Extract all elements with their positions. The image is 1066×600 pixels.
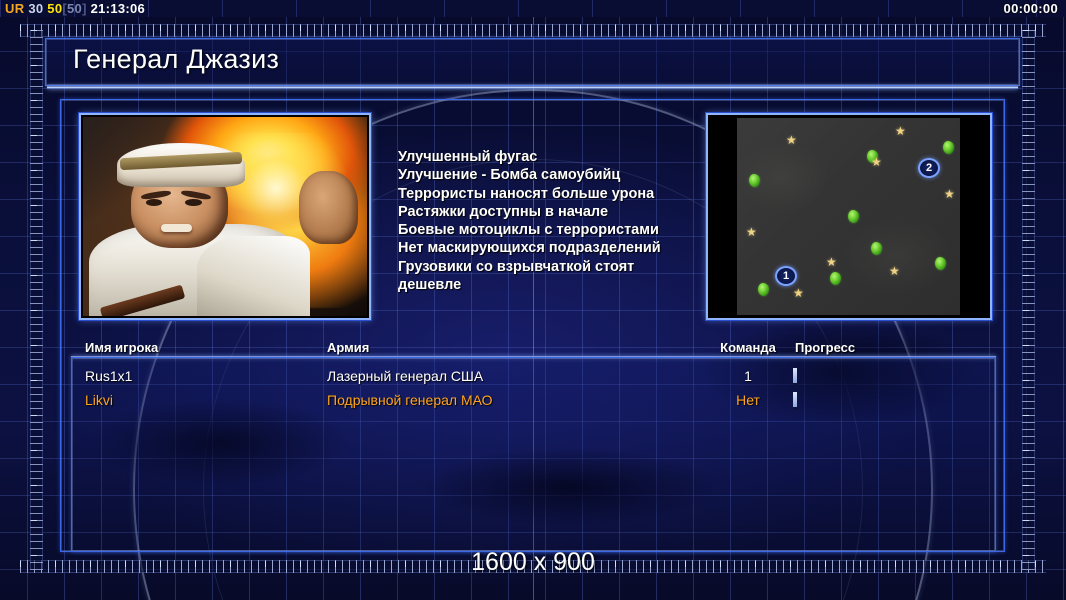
portrait-hand	[299, 171, 359, 245]
general-portrait-image	[83, 117, 367, 316]
player-army: Подрывной генерал МАО	[327, 388, 493, 412]
ruler-band-top	[20, 24, 1046, 37]
minimap[interactable]: 12	[711, 118, 987, 315]
player-progress	[795, 369, 984, 382]
minimap-supply-blob	[935, 257, 946, 270]
status-ur-label: UR	[5, 1, 24, 16]
portrait-shoulder-cloth	[197, 236, 311, 316]
player-team: Нет	[712, 388, 784, 412]
player-army: Лазерный генерал США	[327, 364, 483, 388]
status-value-2: 50	[47, 1, 62, 16]
minimap-supply-blob	[848, 210, 859, 223]
minimap-frame[interactable]: 12	[706, 113, 992, 320]
column-header-progress: Прогресс	[795, 340, 855, 355]
minimap-supply-blob	[871, 242, 882, 255]
minimap-supply-blob	[758, 283, 769, 296]
status-bar: UR 30 50[50] 21:13:06 00:00:00	[0, 0, 1066, 17]
table-row[interactable]: Likvi Подрывной генерал МАО Нет	[60, 388, 1005, 412]
ability-line: Террористы наносят больше урона	[398, 185, 698, 203]
portrait-eye-left	[146, 199, 162, 206]
minimap-start-position-1[interactable]: 1	[775, 266, 797, 286]
progress-bar-cap	[793, 392, 797, 407]
player-table-rows: Rus1x1 Лазерный генерал США 1 Likvi Подр…	[60, 364, 1005, 412]
general-ability-list: Улучшенный фугас Улучшение - Бомба самоу…	[398, 148, 698, 294]
portrait-eye-right	[185, 199, 201, 206]
page-title: Генерал Джазиз	[73, 44, 279, 75]
minimap-supply-blob	[830, 272, 841, 285]
player-name: Likvi	[85, 388, 113, 412]
column-header-army: Армия	[327, 340, 369, 355]
column-header-team: Команда	[712, 340, 784, 355]
status-bar-left-group: UR 30 50[50] 21:13:06	[5, 0, 145, 17]
minimap-start-position-2[interactable]: 2	[918, 158, 940, 178]
title-divider	[47, 86, 1018, 89]
status-bar-grid	[0, 0, 1066, 17]
ability-line: дешевле	[398, 276, 698, 294]
portrait-mouth	[161, 224, 192, 232]
ability-line: Растяжки доступны в начале	[398, 203, 698, 221]
ability-line: Нет маскирующихся подразделений	[398, 239, 698, 257]
player-progress	[795, 393, 984, 406]
general-portrait-frame	[79, 113, 371, 320]
status-timer: 00:00:00	[1004, 0, 1058, 17]
status-value-3: 50	[67, 1, 82, 16]
minimap-supply-blob	[943, 141, 954, 154]
player-table-header-row: Имя игрока Армия Команда Прогресс	[60, 340, 1005, 357]
status-clock: 21:13:06	[91, 1, 145, 16]
progress-bar-cap	[793, 368, 797, 383]
status-value-1: 30	[28, 1, 43, 16]
player-team: 1	[712, 364, 784, 388]
ability-line: Боевые мотоциклы с террористами	[398, 221, 698, 239]
minimap-supply-blob	[749, 174, 760, 187]
game-lobby-screen: UR 30 50[50] 21:13:06 00:00:00 Генерал Д…	[0, 0, 1066, 600]
ability-line: Улучшение - Бомба самоубийц	[398, 166, 698, 184]
ruler-band-right	[1022, 30, 1035, 570]
player-name: Rus1x1	[85, 364, 132, 388]
ability-line: Грузовики со взрывчаткой стоят	[398, 258, 698, 276]
ruler-band-left	[30, 30, 43, 570]
table-row[interactable]: Rus1x1 Лазерный генерал США 1	[60, 364, 1005, 388]
ability-line: Улучшенный фугас	[398, 148, 698, 166]
resolution-label: 1600 x 900	[0, 548, 1066, 577]
column-header-player-name: Имя игрока	[85, 340, 158, 355]
